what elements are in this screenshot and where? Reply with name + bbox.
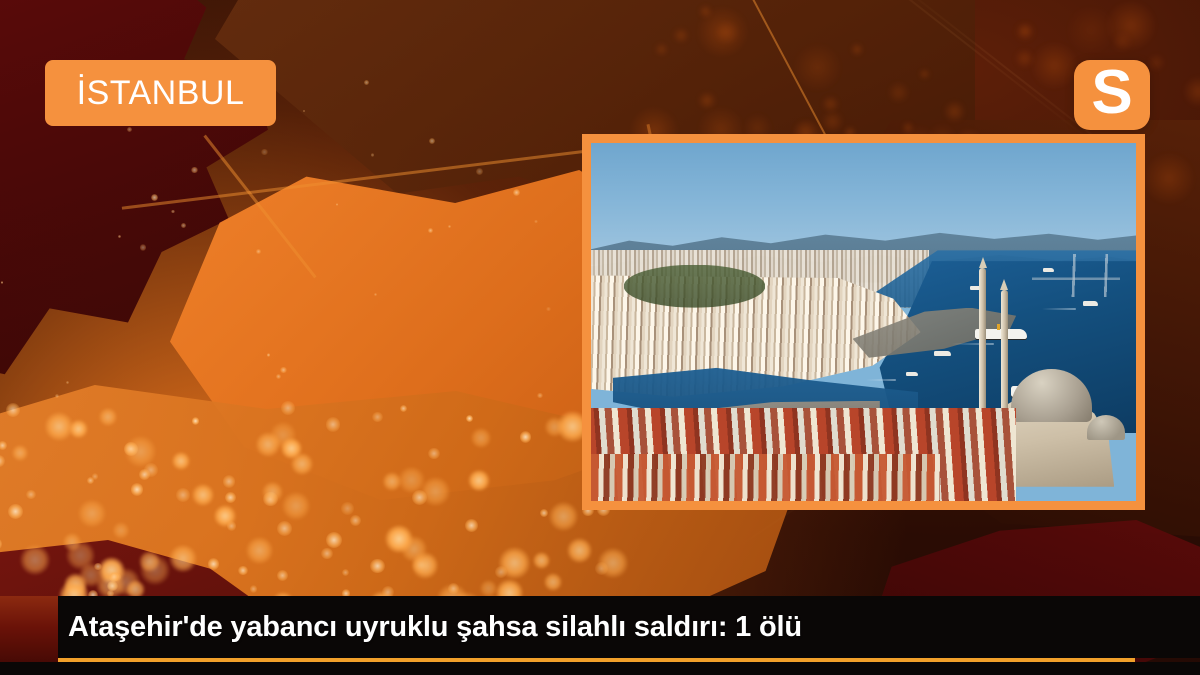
- bokeh-light: [480, 580, 497, 597]
- bokeh-speck: [546, 307, 551, 312]
- bokeh-speck: [118, 235, 121, 238]
- bokeh-light: [92, 473, 98, 479]
- photo-bosphorus-bridge: [1032, 254, 1119, 297]
- bokeh-light: [428, 448, 439, 459]
- bokeh-light: [131, 483, 143, 495]
- bokeh-speck: [66, 381, 68, 383]
- bokeh-light: [341, 502, 353, 514]
- bokeh-light: [321, 548, 332, 559]
- bokeh-speck: [513, 189, 520, 196]
- bokeh-light: [598, 548, 627, 577]
- bokeh-speck: [1, 281, 3, 283]
- headline-bottom-strip: [0, 662, 1200, 675]
- headline-bar: Ataşehir'de yabancı uyruklu şahsa silahl…: [58, 596, 1200, 658]
- photo-boat: [934, 351, 951, 356]
- bokeh-light: [99, 408, 117, 426]
- brand-logo-letter: S: [1091, 62, 1132, 124]
- bokeh-speck: [140, 244, 146, 250]
- bokeh-speck: [55, 394, 59, 398]
- bokeh-light: [385, 525, 413, 553]
- bokeh-light: [192, 484, 214, 506]
- bokeh-speck: [476, 168, 483, 175]
- bokeh-light: [277, 521, 292, 536]
- bokeh-light: [262, 482, 282, 502]
- bokeh-light: [8, 504, 23, 519]
- bokeh-light: [139, 469, 150, 480]
- bokeh-light: [1015, 49, 1034, 68]
- photo-boat-wake: [866, 379, 896, 381]
- bokeh-speck: [534, 220, 538, 224]
- bokeh-light: [567, 538, 592, 563]
- bokeh-speck: [537, 393, 543, 399]
- istanbul-photo: [591, 143, 1136, 501]
- bokeh-speck: [256, 249, 261, 254]
- bokeh-light: [277, 570, 288, 581]
- bokeh-light: [919, 69, 929, 79]
- bokeh-light: [69, 420, 88, 439]
- bokeh-light: [544, 573, 562, 591]
- bokeh-light: [465, 519, 477, 531]
- bokeh-light: [822, 96, 838, 112]
- city-badge: İSTANBUL: [45, 60, 276, 126]
- bokeh-light: [0, 441, 7, 450]
- bokeh-speck: [127, 127, 132, 132]
- bokeh-speck: [151, 194, 158, 201]
- bokeh-light: [139, 551, 160, 572]
- bokeh-light: [698, 92, 715, 109]
- bokeh-light: [208, 558, 219, 569]
- bokeh-light: [520, 431, 532, 443]
- bokeh-light: [400, 405, 407, 412]
- photo-boat: [1083, 301, 1098, 306]
- brand-logo[interactable]: S: [1074, 60, 1150, 130]
- bokeh-light: [822, 111, 843, 132]
- bokeh-light: [412, 557, 428, 573]
- bokeh-light: [1112, 32, 1132, 52]
- bokeh-speck: [267, 353, 270, 356]
- bokeh-speck: [371, 153, 374, 156]
- bokeh-light: [281, 401, 295, 415]
- photo-green-hill: [624, 265, 766, 308]
- bokeh-light: [944, 101, 965, 122]
- news-card: İSTANBUL S: [0, 0, 1200, 675]
- bokeh-speck: [261, 149, 268, 156]
- bokeh-light: [1032, 43, 1077, 88]
- bokeh-speck: [181, 223, 185, 227]
- bokeh-light: [471, 428, 491, 448]
- photo-frame: [582, 134, 1145, 510]
- bokeh-light: [223, 475, 235, 487]
- bokeh-light: [326, 417, 340, 431]
- bokeh-light: [125, 436, 156, 467]
- bokeh-light: [113, 522, 129, 538]
- city-badge-label: İSTANBUL: [77, 76, 245, 110]
- bokeh-light: [246, 537, 273, 564]
- bokeh-light: [412, 490, 427, 505]
- bokeh-speck: [428, 228, 433, 233]
- bokeh-light: [1145, 154, 1193, 202]
- bokeh-light: [78, 500, 106, 528]
- bokeh-light: [256, 432, 280, 456]
- bokeh-light: [350, 515, 361, 526]
- bokeh-light: [795, 45, 840, 90]
- photo-foreground-rooftops: [591, 454, 940, 501]
- bokeh-light: [370, 559, 384, 573]
- bokeh-light: [172, 452, 190, 470]
- bokeh-light: [1148, 54, 1165, 71]
- bokeh-speck: [448, 225, 451, 228]
- photo-boat: [1043, 268, 1054, 272]
- bokeh-light: [851, 43, 864, 56]
- bokeh-speck: [276, 374, 281, 379]
- bokeh-light: [888, 82, 909, 103]
- photo-boat: [906, 372, 918, 376]
- bokeh-light: [192, 417, 200, 425]
- photo-boat-wake: [1042, 308, 1076, 310]
- bokeh-light: [448, 583, 459, 594]
- bokeh-light: [673, 28, 689, 44]
- bokeh-light: [26, 490, 36, 500]
- bokeh-light: [169, 545, 196, 572]
- bokeh-speck: [364, 80, 369, 85]
- headline-text: Ataşehir'de yabancı uyruklu şahsa silahl…: [68, 611, 802, 644]
- photo-minaret: [979, 268, 986, 429]
- bokeh-light: [20, 545, 50, 575]
- bokeh-light: [238, 566, 247, 575]
- bokeh-light: [372, 412, 383, 423]
